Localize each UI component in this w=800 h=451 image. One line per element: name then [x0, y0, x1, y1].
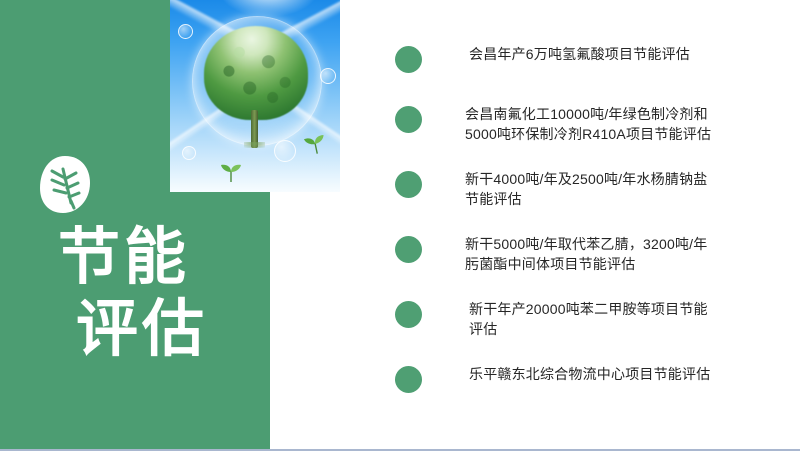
bullet-dot-icon [395, 171, 422, 198]
list-item[interactable]: 会昌年产6万吨氢氟酸项目节能评估 [395, 46, 800, 73]
list-item[interactable]: 新干4000吨/年及2500吨/年水杨腈钠盐 节能评估 [395, 171, 800, 209]
bubble-icon [320, 68, 336, 84]
bullet-dot-icon [395, 366, 422, 393]
sprout-icon [218, 160, 244, 182]
list-item-label: 会昌南氟化工10000吨/年绿色制冷剂和 5000吨环保制冷剂R410A项目节能… [422, 104, 800, 144]
page-title: 节能 评估 [58, 222, 258, 366]
bullet-dot-icon [395, 106, 422, 133]
bubble-icon [182, 146, 196, 160]
list-item-label: 乐平赣东北综合物流中心项目节能评估 [422, 364, 800, 384]
list-item-label: 新干5000吨/年取代苯乙腈，3200吨/年 肟菌酯中间体项目节能评估 [422, 234, 800, 274]
list-item[interactable]: 新干5000吨/年取代苯乙腈，3200吨/年 肟菌酯中间体项目节能评估 [395, 236, 800, 274]
sprout-icon [300, 130, 330, 157]
bubble-icon [178, 24, 193, 39]
hero-image-tree-in-sphere [170, 0, 340, 192]
bullet-dot-icon [395, 46, 422, 73]
list-item[interactable]: 乐平赣东北综合物流中心项目节能评估 [395, 366, 800, 393]
list-item-label: 会昌年产6万吨氢氟酸项目节能评估 [422, 44, 800, 64]
list-item-label: 新干4000吨/年及2500吨/年水杨腈钠盐 节能评估 [422, 169, 800, 209]
page-title-line-1: 节能 [58, 222, 258, 294]
project-list: 会昌年产6万吨氢氟酸项目节能评估会昌南氟化工10000吨/年绿色制冷剂和 500… [395, 0, 800, 449]
bullet-dot-icon [395, 236, 422, 263]
list-item[interactable]: 会昌南氟化工10000吨/年绿色制冷剂和 5000吨环保制冷剂R410A项目节能… [395, 106, 800, 144]
tree-trunk-icon [251, 110, 258, 148]
slide-canvas: 节能 评估 会昌年产6万吨氢氟酸项目节能评估会昌南氟化工10000吨/年绿色制冷… [0, 0, 800, 451]
list-item-label: 新干年产20000吨苯二甲胺等项目节能 评估 [422, 299, 800, 339]
list-item[interactable]: 新干年产20000吨苯二甲胺等项目节能 评估 [395, 301, 800, 339]
tree-canopy-texture-icon [204, 26, 308, 120]
bubble-icon [274, 140, 296, 162]
leaf-icon [38, 155, 92, 217]
bullet-dot-icon [395, 301, 422, 328]
page-title-line-2: 评估 [76, 294, 258, 366]
